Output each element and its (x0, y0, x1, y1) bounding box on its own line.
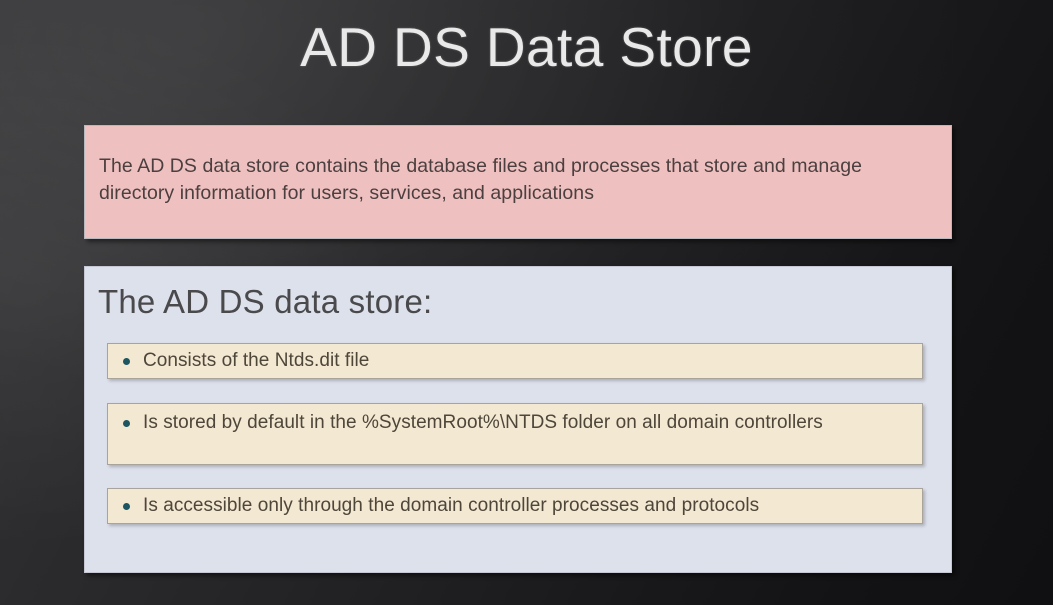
list-item-label: Is stored by default in the %SystemRoot%… (143, 411, 823, 435)
detail-panel-heading: The AD DS data store: (98, 280, 432, 324)
summary-callout-box: The AD DS data store contains the databa… (84, 125, 952, 239)
list-item: Consists of the Ntds.dit file (107, 343, 923, 379)
list-item-label: Consists of the Ntds.dit file (143, 349, 369, 373)
list-item: Is accessible only through the domain co… (107, 488, 923, 524)
detail-panel: The AD DS data store: Consists of the Nt… (84, 266, 952, 573)
summary-text: The AD DS data store contains the databa… (99, 153, 935, 207)
bullet-dot-icon (123, 503, 130, 510)
presentation-slide: AD DS Data Store The AD DS data store co… (0, 0, 1053, 605)
bullet-dot-icon (123, 420, 130, 427)
list-item: Is stored by default in the %SystemRoot%… (107, 403, 923, 465)
list-item-label: Is accessible only through the domain co… (143, 494, 759, 518)
page-title: AD DS Data Store (0, 12, 1053, 82)
bullet-dot-icon (123, 358, 130, 365)
